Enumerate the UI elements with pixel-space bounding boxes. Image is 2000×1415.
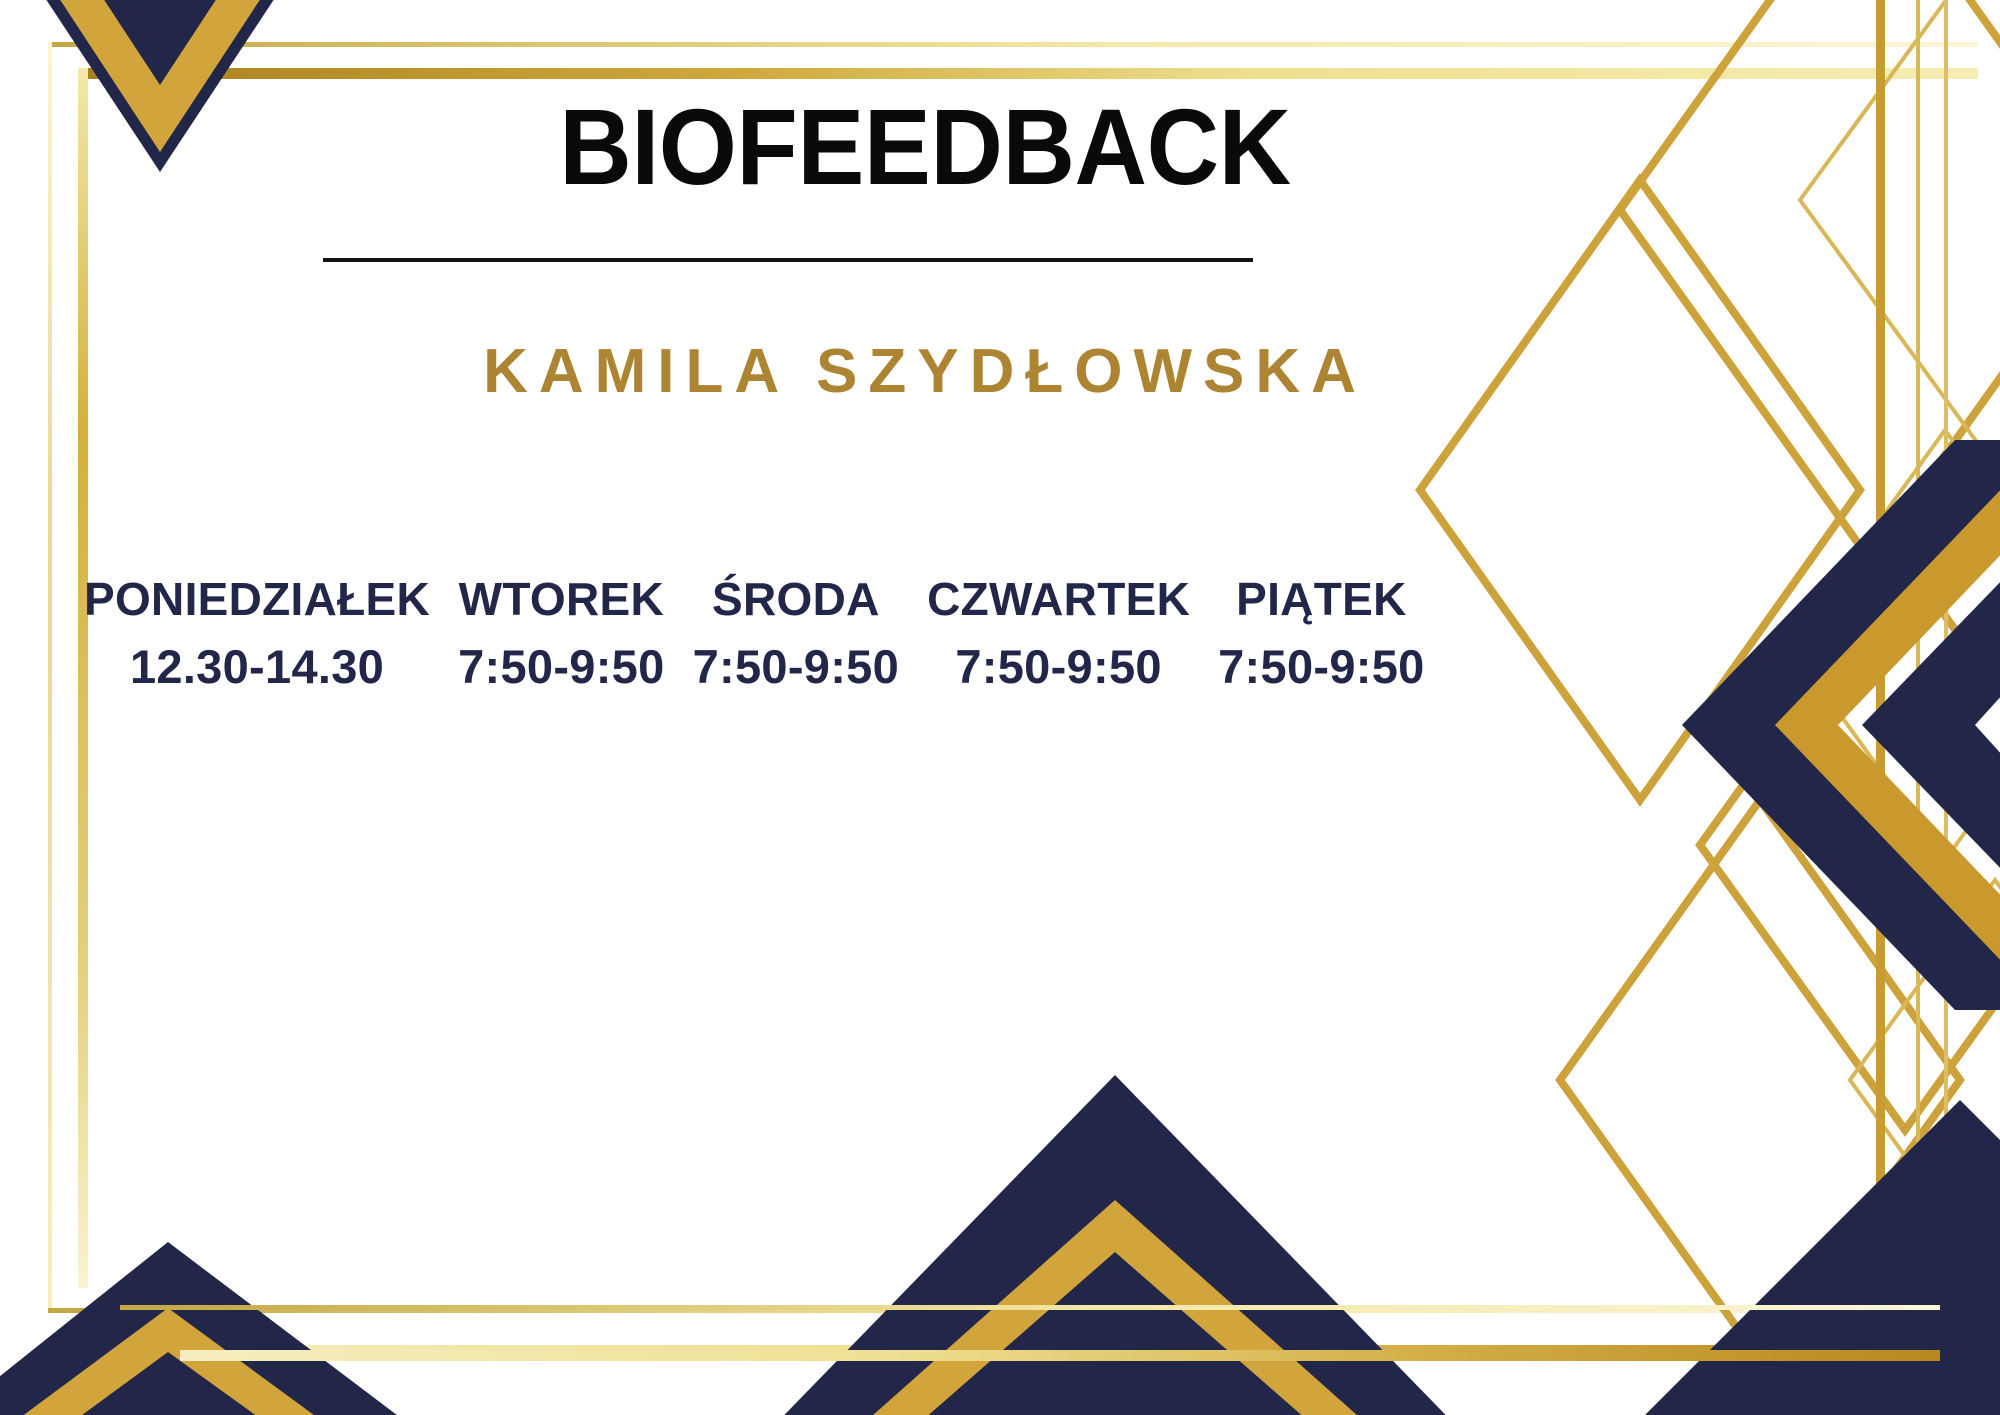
page-title: BIOFEEDBACK: [65, 92, 1786, 202]
poster-canvas: BIOFEEDBACK KAMILA SZYDŁOWSKA PONIEDZIAŁ…: [0, 0, 2000, 1415]
day-label: CZWARTEK: [927, 572, 1190, 626]
day-label: PIĄTEK: [1218, 572, 1425, 626]
day-label: WTOREK: [458, 572, 665, 626]
day-hours: 7:50-9:50: [927, 638, 1190, 695]
instructor-name: KAMILA SZYDŁOWSKA: [0, 336, 1850, 407]
day-label: PONIEDZIAŁEK: [84, 572, 430, 626]
schedule-column: CZWARTEK7:50-9:50: [913, 572, 1204, 696]
schedule-column: PIĄTEK7:50-9:50: [1204, 572, 1439, 696]
title-divider: [323, 258, 1253, 262]
day-label: ŚRODA: [693, 572, 900, 626]
schedule-column: PONIEDZIAŁEK12.30-14.30: [70, 572, 444, 696]
schedule-column: ŚRODA7:50-9:50: [679, 572, 914, 696]
schedule-row: PONIEDZIAŁEK12.30-14.30WTOREK7:50-9:50ŚR…: [70, 572, 1780, 696]
day-hours: 7:50-9:50: [693, 638, 900, 695]
day-hours: 12.30-14.30: [84, 638, 430, 695]
schedule-column: WTOREK7:50-9:50: [444, 572, 679, 696]
day-hours: 7:50-9:50: [1218, 638, 1425, 695]
title-block: BIOFEEDBACK: [0, 92, 1850, 202]
day-hours: 7:50-9:50: [458, 638, 665, 695]
